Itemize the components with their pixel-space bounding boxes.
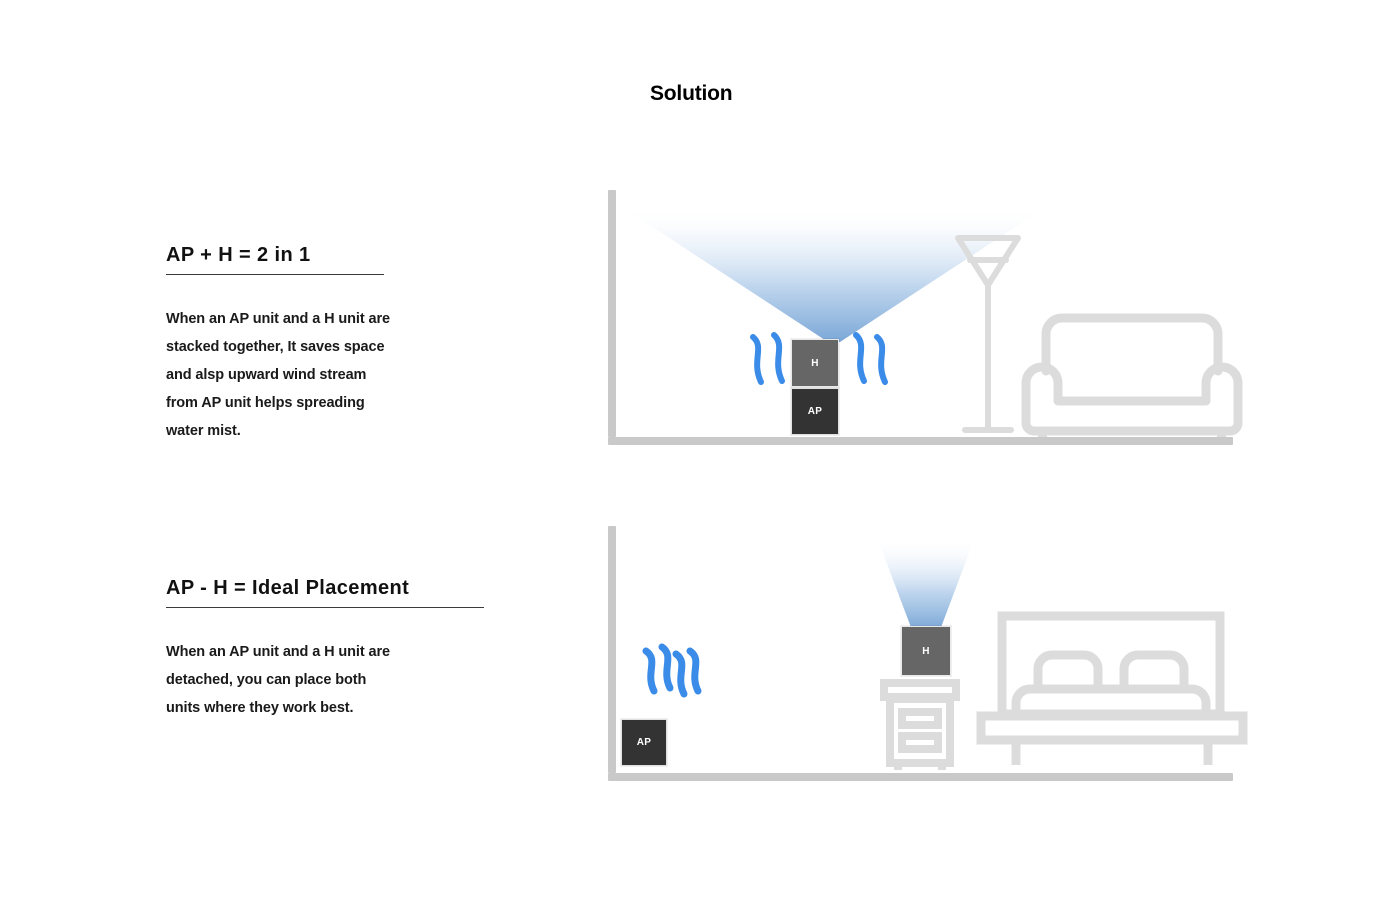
block-heading: AP + H = 2 in 1	[166, 244, 311, 274]
room-wall	[608, 526, 616, 773]
room-wall	[608, 190, 616, 437]
heading-underline	[166, 274, 384, 275]
bed-icon	[976, 611, 1248, 773]
body-line: units where they work best.	[166, 694, 484, 722]
unit-air-purifier[interactable]: AP	[791, 388, 839, 435]
poster-canvas: Solution AP + H = 2 in 1 When an AP unit…	[0, 0, 1400, 906]
sofa-icon	[1016, 305, 1248, 437]
unit-air-purifier[interactable]: AP	[621, 719, 667, 766]
scene-living-room-stacked: H AP	[608, 190, 1248, 445]
unit-humidifier[interactable]: H	[791, 339, 839, 387]
nightstand-icon	[880, 679, 960, 773]
body-line: water mist.	[166, 417, 390, 445]
body-line: detached, you can place both	[166, 666, 484, 694]
page-title: Solution	[650, 82, 732, 106]
body-line: When an AP unit and a H unit are	[166, 305, 390, 333]
body-line: When an AP unit and a H unit are	[166, 638, 484, 666]
airflow-wave-icon	[636, 641, 706, 703]
text-block-ap-minus-h: AP - H = Ideal Placement When an AP unit…	[166, 577, 484, 722]
block-body: When an AP unit and a H unit are detache…	[166, 638, 484, 722]
body-line: stacked together, It saves space	[166, 333, 390, 361]
mist-cone-icon	[876, 540, 976, 630]
scene-bedroom-detached: H AP	[608, 526, 1248, 781]
airflow-wave-icon	[846, 330, 892, 390]
unit-humidifier[interactable]: H	[901, 626, 951, 676]
block-body: When an AP unit and a H unit are stacked…	[166, 305, 390, 445]
block-heading: AP - H = Ideal Placement	[166, 577, 409, 607]
room-floor	[608, 773, 1233, 781]
body-line: from AP unit helps spreading	[166, 389, 390, 417]
body-line: and alsp upward wind stream	[166, 361, 390, 389]
text-block-ap-plus-h: AP + H = 2 in 1 When an AP unit and a H …	[166, 244, 390, 445]
floor-lamp-icon	[953, 233, 1023, 437]
heading-underline	[166, 607, 484, 608]
room-floor	[608, 437, 1233, 445]
airflow-wave-icon	[745, 330, 791, 390]
